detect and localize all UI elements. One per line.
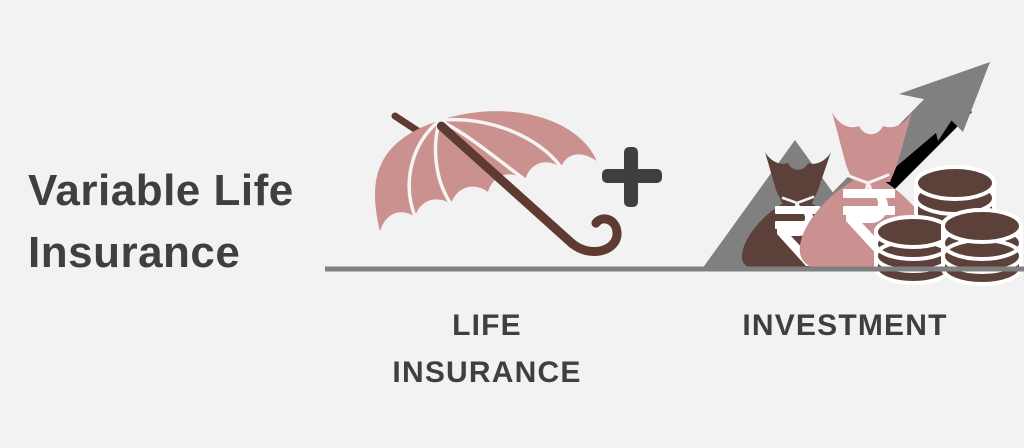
plus-icon-horizontal-bar <box>602 169 662 183</box>
caption-life-insurance-line-2: INSURANCE <box>337 350 637 397</box>
page-title-line-1: Variable Life <box>28 160 328 222</box>
coin-stack-left <box>876 217 950 283</box>
caption-investment: INVESTMENT <box>695 303 995 350</box>
infographic-canvas: Variable Life Insurance LIFE INSURANCE I… <box>0 0 1024 448</box>
coin-top-face <box>943 210 1021 242</box>
umbrella-icon <box>347 61 623 314</box>
page-title: Variable Life Insurance <box>28 160 328 285</box>
umbrella-handle-hook <box>568 216 622 259</box>
caption-investment-label: INVESTMENT <box>742 309 947 342</box>
caption-life-insurance-line-1: LIFE <box>337 303 637 350</box>
caption-life-insurance: LIFE INSURANCE <box>337 303 637 396</box>
plus-icon <box>600 145 664 209</box>
coin-stack-right <box>943 210 1021 284</box>
coin-top-face <box>916 167 994 199</box>
coin-top-face <box>876 217 950 247</box>
page-title-line-2: Insurance <box>28 222 328 284</box>
